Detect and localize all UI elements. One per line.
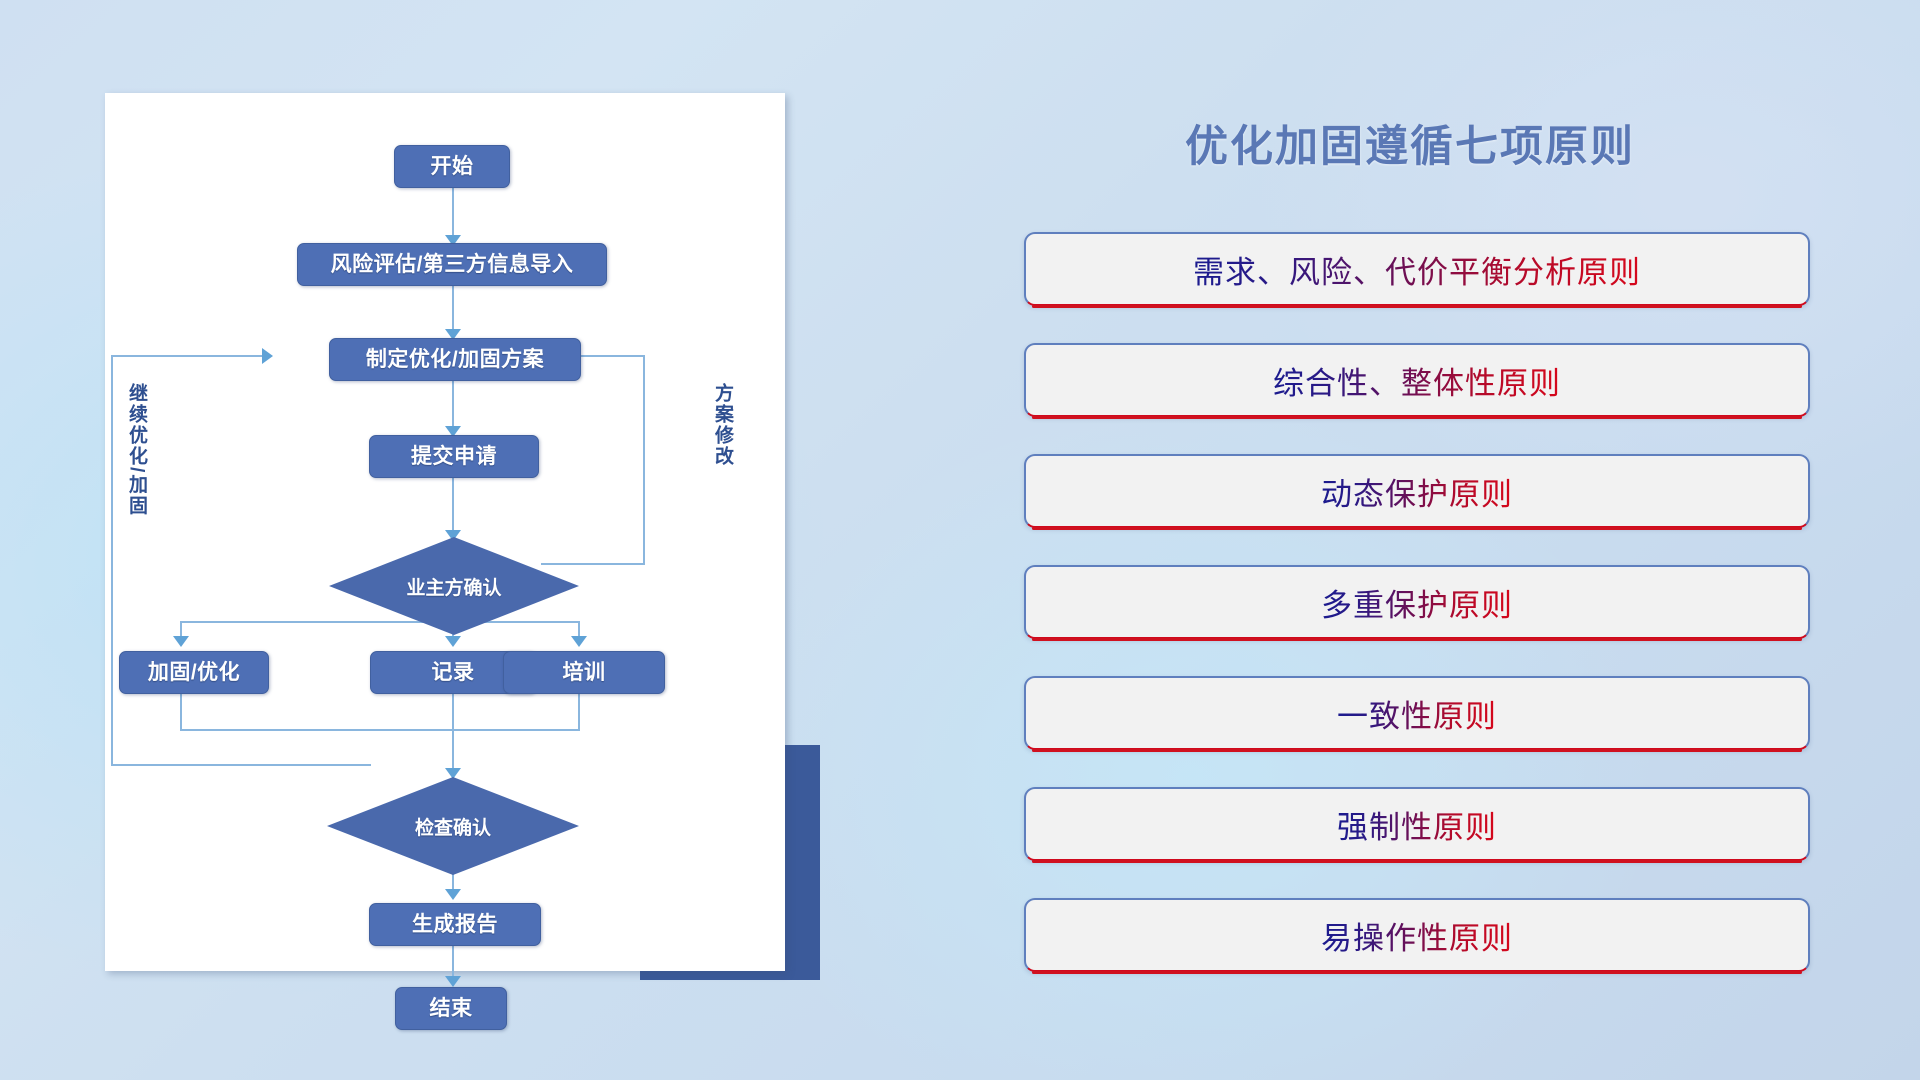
node-generate-report[interactable]: 生成报告: [369, 903, 541, 946]
principle-label-2: 综合性、整体性原则: [1273, 358, 1561, 403]
principle-card-3[interactable]: 动态保护原则: [1024, 454, 1810, 528]
node-training[interactable]: 培训: [503, 651, 665, 694]
connector-owner-right: [541, 563, 645, 565]
connector-reinf-down: [180, 694, 182, 730]
node-submit-application-label: 提交申请: [411, 445, 497, 468]
arrowhead-report: [445, 889, 461, 900]
principle-card-7[interactable]: 易操作性原则: [1024, 898, 1810, 972]
connector-left-loop-bottom: [111, 764, 371, 766]
node-make-plan-label: 制定优化/加固方案: [366, 348, 544, 371]
principle-card-2[interactable]: 综合性、整体性原则: [1024, 343, 1810, 417]
node-generate-report-label: 生成报告: [412, 913, 498, 936]
node-training-label: 培训: [563, 661, 606, 684]
principle-card-5[interactable]: 一致性原则: [1024, 676, 1810, 750]
principle-label-1: 需求、风险、代价平衡分析原则: [1193, 247, 1641, 292]
node-risk-assessment[interactable]: 风险评估/第三方信息导入: [297, 243, 607, 286]
connector-left-loop-vertical: [111, 355, 113, 766]
connector-bus-to-check: [452, 694, 454, 776]
principle-card-1[interactable]: 需求、风险、代价平衡分析原则: [1024, 232, 1810, 306]
node-end[interactable]: 结束: [395, 987, 507, 1030]
node-end-label: 结束: [430, 997, 473, 1020]
arrowhead-train: [571, 636, 587, 647]
connector-start-to-risk: [452, 188, 454, 242]
connector-submit-to-owner: [452, 478, 454, 538]
principle-card-6[interactable]: 强制性原则: [1024, 787, 1810, 861]
principles-list: 需求、风险、代价平衡分析原则 综合性、整体性原则 动态保护原则 多重保护原则 一…: [1024, 232, 1810, 1009]
flowchart-canvas: 开始 风险评估/第三方信息导入 制定优化/加固方案 提交申请 业主方确认 加固/…: [105, 93, 785, 971]
principle-card-4[interactable]: 多重保护原则: [1024, 565, 1810, 639]
node-reinforce-optimize[interactable]: 加固/优化: [119, 651, 269, 694]
connector-right-loop-vertical: [643, 355, 645, 565]
principle-label-6: 强制性原则: [1337, 802, 1497, 847]
node-owner-confirm-label: 业主方确认: [406, 573, 501, 600]
edge-label-plan-revision: 方案修改: [713, 383, 732, 503]
connector-left-loop-top: [111, 355, 266, 357]
principle-label-4: 多重保护原则: [1321, 580, 1513, 625]
edge-label-continue-optimize: 继续优化/加固: [127, 383, 146, 553]
principle-label-5: 一致性原则: [1337, 691, 1497, 736]
node-record-label: 记录: [432, 661, 475, 684]
page-title: 优化加固遵循七项原则: [1000, 112, 1820, 174]
principle-label-3: 动态保护原则: [1321, 469, 1513, 514]
node-risk-assessment-label: 风险评估/第三方信息导入: [331, 253, 574, 276]
connector-merge-bus: [180, 729, 580, 731]
arrowhead-plan-from-left: [262, 348, 273, 364]
arrowhead-end: [445, 976, 461, 987]
node-inspection-confirm-label: 检查确认: [415, 813, 491, 840]
node-start[interactable]: 开始: [394, 145, 510, 188]
principles-panel: 优化加固遵循七项原则 需求、风险、代价平衡分析原则 综合性、整体性原则 动态保护…: [1000, 0, 1920, 1080]
node-make-plan[interactable]: 制定优化/加固方案: [329, 338, 581, 381]
node-submit-application[interactable]: 提交申请: [369, 435, 539, 478]
arrowhead-record: [445, 636, 461, 647]
connector-train-down: [578, 694, 580, 730]
node-start-label: 开始: [431, 155, 474, 178]
connector-branch-bus: [180, 621, 580, 623]
arrowhead-reinf: [173, 636, 189, 647]
principle-label-7: 易操作性原则: [1321, 913, 1513, 958]
node-inspection-confirm[interactable]: 检查确认: [327, 777, 579, 875]
node-reinforce-optimize-label: 加固/优化: [148, 661, 240, 684]
